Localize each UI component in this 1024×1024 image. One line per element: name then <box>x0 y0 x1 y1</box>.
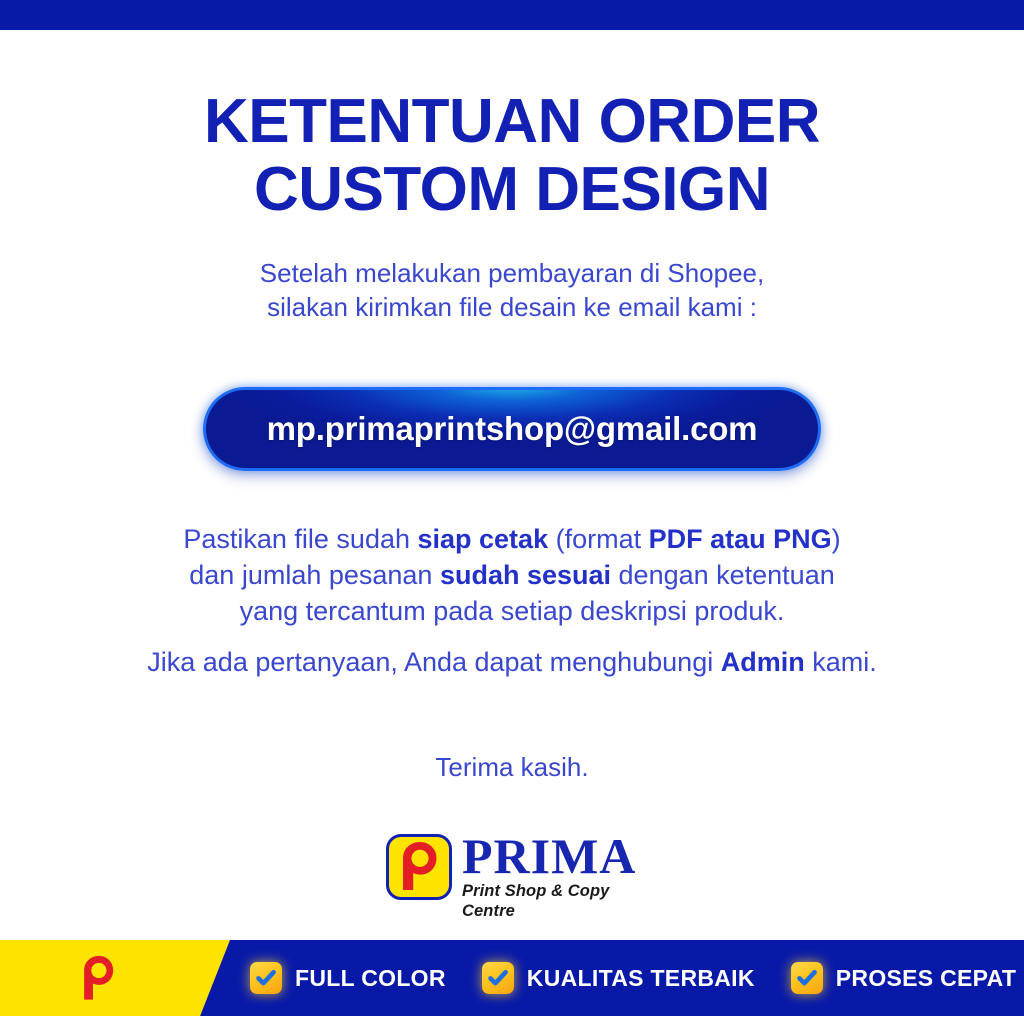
prima-logo-wordmark-group: PRIMA Print Shop & Copy Centre <box>462 832 646 921</box>
page-title-line-1: KETENTUAN ORDER <box>0 88 1024 156</box>
prima-logo-mark-icon <box>386 834 452 900</box>
poster-canvas: KETENTUAN ORDER CUSTOM DESIGN Setelah me… <box>0 0 1024 1024</box>
subtitle: Setelah melakukan pembayaran di Shopee, … <box>0 256 1024 324</box>
instructions-emphasis-sudah-sesuai: sudah sesuai <box>440 560 611 590</box>
instructions-line-1-part-c: (format <box>548 524 649 554</box>
footer-bar: FULL COLOR KUALITAS TERBAIK PROSES CEPAT <box>0 940 1024 1016</box>
footer-feature-label: KUALITAS TERBAIK <box>527 965 755 992</box>
page-title-line-2: CUSTOM DESIGN <box>0 156 1024 224</box>
instructions-line-3: yang tercantum pada setiap deskripsi pro… <box>0 593 1024 629</box>
footer-feature-item: KUALITAS TERBAIK <box>482 962 755 994</box>
email-button-wrapper: mp.primaprintshop@gmail.com <box>203 387 821 471</box>
footer-feature-item: PROSES CEPAT <box>791 962 1016 994</box>
top-accent-band <box>0 0 1024 30</box>
subtitle-line-2: silakan kirimkan file desain ke email ka… <box>0 290 1024 324</box>
footer-feature-item: FULL COLOR <box>250 962 446 994</box>
prima-logo: PRIMA Print Shop & Copy Centre <box>386 832 646 908</box>
check-badge-icon <box>250 962 282 994</box>
instructions-line-2-part-c: dengan ketentuan <box>611 560 835 590</box>
instructions-line-1-part-a: Pastikan file sudah <box>183 524 417 554</box>
instructions-line-1-part-e: ) <box>832 524 841 554</box>
footer-feature-label: FULL COLOR <box>295 965 446 992</box>
prima-tagline: Print Shop & Copy Centre <box>462 881 646 921</box>
admin-contact-prefix: Jika ada pertanyaan, Anda dapat menghubu… <box>147 647 720 677</box>
admin-contact-suffix: kami. <box>805 647 877 677</box>
check-badge-icon <box>482 962 514 994</box>
email-address-button[interactable]: mp.primaprintshop@gmail.com <box>203 387 821 471</box>
admin-contact-line: Jika ada pertanyaan, Anda dapat menghubu… <box>0 645 1024 679</box>
instructions-line-2: dan jumlah pesanan sudah sesuai dengan k… <box>0 557 1024 593</box>
footer-feature-label: PROSES CEPAT <box>836 965 1016 992</box>
instructions-emphasis-siap-cetak: siap cetak <box>418 524 549 554</box>
page-title: KETENTUAN ORDER CUSTOM DESIGN <box>0 88 1024 224</box>
footer-feature-list: FULL COLOR KUALITAS TERBAIK PROSES CEPAT <box>250 940 1024 1016</box>
prima-wordmark: PRIMA <box>462 832 646 880</box>
footer-prima-p-icon <box>72 952 124 1004</box>
subtitle-line-1: Setelah melakukan pembayaran di Shopee, <box>0 256 1024 290</box>
email-address-text: mp.primaprintshop@gmail.com <box>267 410 758 448</box>
thanks-line: Terima kasih. <box>0 752 1024 783</box>
instructions-line-1: Pastikan file sudah siap cetak (format P… <box>0 521 1024 557</box>
admin-contact-emphasis: Admin <box>721 647 805 677</box>
instructions-line-2-part-a: dan jumlah pesanan <box>189 560 440 590</box>
instructions-emphasis-formats: PDF atau PNG <box>649 524 832 554</box>
check-badge-icon <box>791 962 823 994</box>
instructions-paragraph: Pastikan file sudah siap cetak (format P… <box>0 521 1024 629</box>
